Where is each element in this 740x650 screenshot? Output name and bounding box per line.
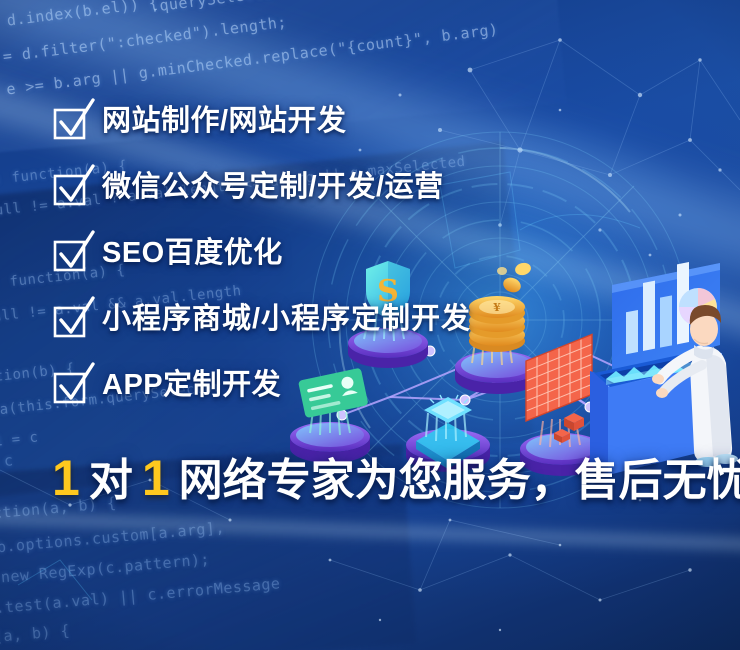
checkbox-checked-icon[interactable]: [52, 370, 88, 404]
checkbox-checked-icon[interactable]: [52, 238, 88, 272]
checklist-item-label: SEO百度优化: [102, 236, 283, 270]
checklist-item-label: APP定制开发: [102, 368, 281, 402]
checkbox-checked-icon[interactable]: [52, 304, 88, 338]
checklist-item-website[interactable]: 网站制作/网站开发: [52, 104, 712, 170]
checkbox-checked-icon[interactable]: [52, 106, 88, 140]
checklist-item-wechat[interactable]: 微信公众号定制/开发/运营: [52, 170, 712, 236]
promo-banner: .querySelectorAll('input[type=checkbox]'…: [0, 0, 740, 650]
headline-tail: 网络专家为您服务，售后无忧！: [179, 456, 740, 505]
checkbox-checked-icon[interactable]: [52, 172, 88, 206]
headline-number-second: 1: [142, 450, 170, 506]
checklist-item-label: 网站制作/网站开发: [102, 104, 347, 138]
checklist-item-label: 微信公众号定制/开发/运营: [102, 170, 444, 204]
headline-number-first: 1: [52, 450, 80, 506]
checklist-item-app[interactable]: APP定制开发: [52, 368, 712, 434]
services-checklist: 网站制作/网站开发 微信公众号定制/开发/运营 SEO百度优化: [52, 104, 712, 434]
checklist-item-label: 小程序商城/小程序定制开发: [102, 302, 471, 336]
checklist-item-seo[interactable]: SEO百度优化: [52, 236, 712, 302]
checklist-item-miniprogram[interactable]: 小程序商城/小程序定制开发: [52, 302, 712, 368]
headline-mid-word: 对: [89, 456, 133, 505]
headline: 1对1网络专家为您服务，售后无忧！: [52, 452, 740, 507]
